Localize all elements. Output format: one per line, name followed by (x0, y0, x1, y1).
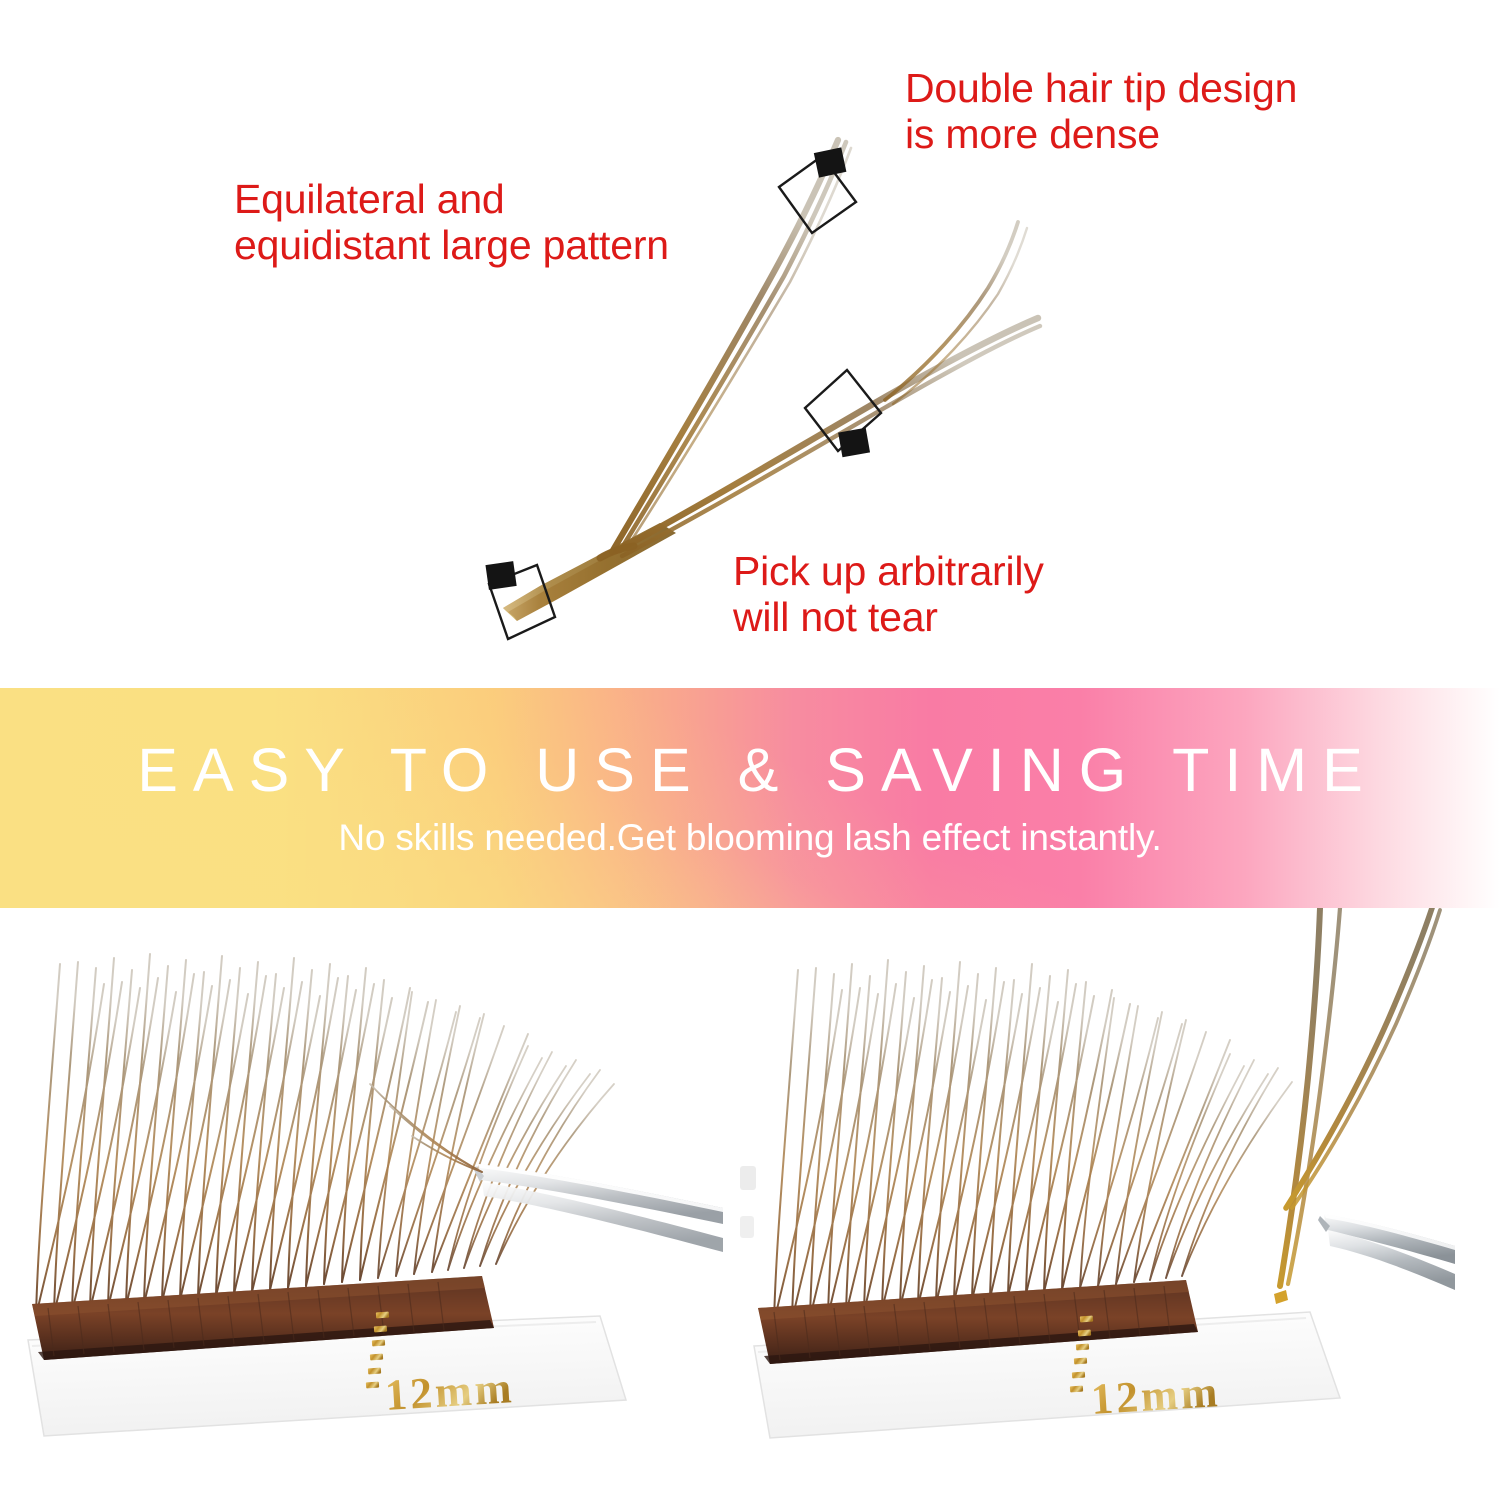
tweezers-right (1318, 1214, 1455, 1290)
size-label-left-text: 12mm (384, 1363, 516, 1420)
product-photo-left: 12mm (8, 908, 723, 1500)
lash-strand-right (616, 222, 1040, 556)
callout-pick-up-no-tear: Pick up arbitrarily will not tear (733, 549, 1044, 641)
product-photo-row: 12mm (0, 908, 1500, 1500)
product-photo-right: 12mm (740, 908, 1455, 1500)
banner-headline: EASY TO USE & SAVING TIME (122, 740, 1378, 801)
feature-banner: EASY TO USE & SAVING TIME No skills need… (0, 688, 1500, 908)
lash-fan-fibers-left (36, 954, 614, 1316)
top-diagram-section: Double hair tip design is more dense Equ… (0, 0, 1500, 688)
lash-fan-fibers-right (774, 960, 1292, 1322)
tweezers-left (474, 1164, 723, 1252)
background-fragment-right (740, 1166, 756, 1238)
callout-double-hair-tip: Double hair tip design is more dense (905, 66, 1297, 158)
callout-marker-middle (805, 370, 881, 457)
callout-equilateral-pattern: Equilateral and equidistant large patter… (234, 177, 669, 269)
size-label-right-text: 12mm (1090, 1367, 1222, 1424)
lash-base-band (503, 523, 676, 621)
banner-subheadline: No skills needed.Get blooming lash effec… (338, 819, 1161, 856)
